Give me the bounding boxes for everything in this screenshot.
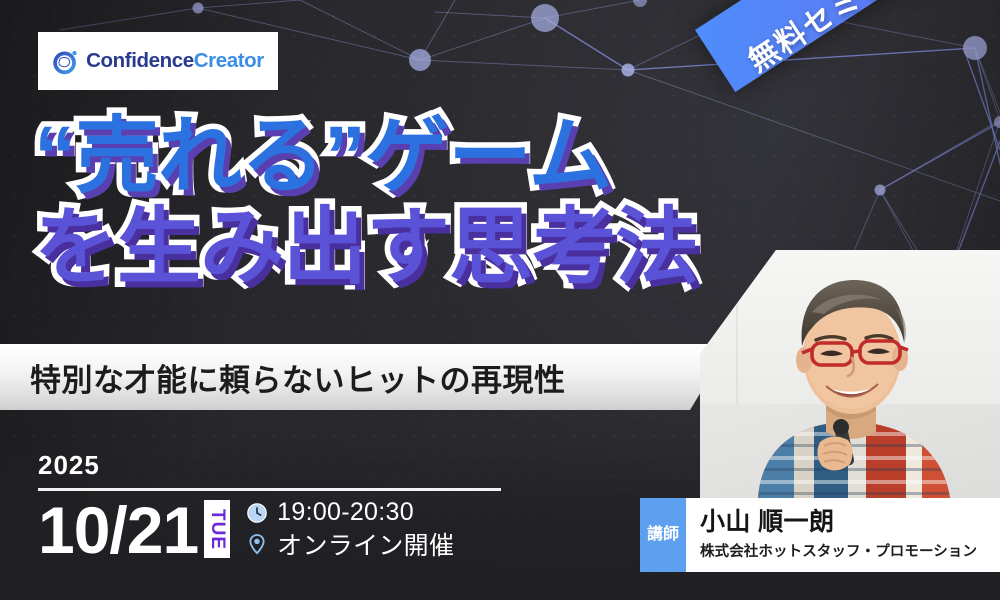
seminar-poster: 無料セミナー ConfidenceCreator “売れる”ゲーム を生み出す	[0, 0, 1000, 600]
brand-logo-text-part2: Creator	[194, 49, 264, 72]
subtitle-text: 特別な才能に頼らないヒットの再現性	[30, 355, 566, 400]
date-divider	[38, 488, 501, 491]
day-of-week-label: TUE	[208, 509, 227, 550]
headline-line-2: を生み出す思考法	[34, 203, 734, 292]
headline-line-1: “売れる”ゲーム	[34, 112, 734, 201]
brand-logo-text: ConfidenceCreator	[86, 49, 264, 73]
event-meta: 19:00-20:30 オンライン開催	[246, 497, 454, 559]
circle-mark-icon	[52, 48, 79, 75]
event-date-block: 2025 10/21 TUE 19:00-20:30	[38, 452, 501, 561]
date-row: 10/21 TUE 19:00-20:30	[38, 497, 501, 561]
speaker-name: 小山 順一朗	[700, 509, 1000, 537]
location-pin-icon	[246, 533, 268, 555]
brand-logo[interactable]: ConfidenceCreator	[38, 32, 278, 90]
speaker-strip: 講師 小山 順一朗 株式会社ホットスタッフ・プロモーション	[640, 498, 1000, 572]
speaker-info: 小山 順一朗 株式会社ホットスタッフ・プロモーション	[686, 498, 1000, 572]
event-time: 19:00-20:30	[277, 498, 414, 527]
speaker-organization: 株式会社ホットスタッフ・プロモーション	[700, 540, 1000, 561]
event-year: 2025	[38, 452, 501, 478]
event-venue: オンライン開催	[277, 526, 454, 562]
event-date: 10/21	[38, 500, 198, 561]
clock-icon	[246, 502, 268, 524]
event-time-row: 19:00-20:30	[246, 497, 454, 528]
headline: “売れる”ゲーム を生み出す思考法	[34, 112, 734, 292]
subtitle-band: 特別な才能に頼らないヒットの再現性	[0, 344, 730, 410]
event-venue-row: オンライン開催	[246, 528, 454, 559]
day-of-week-box: TUE	[204, 500, 230, 558]
brand-logo-text-part1: Confidence	[86, 49, 194, 72]
speaker-badge: 講師	[640, 498, 686, 572]
